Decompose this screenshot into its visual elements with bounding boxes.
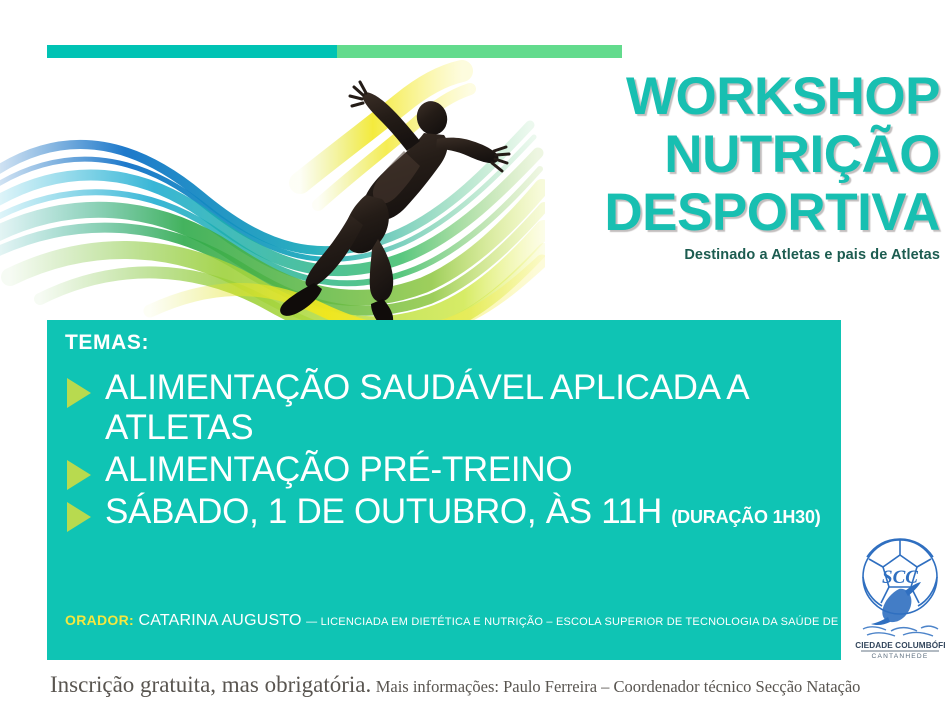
poster-canvas: WORKSHOP NUTRIÇÃO DESPORTIVA Destinado a… [0, 0, 950, 712]
logo-name-line-2: CANTANHEDE [872, 653, 929, 660]
logo-name-line-1: SOCIEDADE COLUMBÓFILA [855, 639, 945, 650]
headline-line-2: NUTRIÇÃO [500, 126, 940, 184]
topic-text: ALIMENTAÇÃO SAUDÁVEL APLICADA A ATLETAS [105, 368, 831, 448]
triangle-bullet-icon [67, 378, 91, 408]
topic-main-text: SÁBADO, 1 DE OUTUBRO, ÀS 11H [105, 492, 662, 531]
sprinting-athlete-artwork [0, 55, 545, 320]
triangle-bullet-icon [67, 502, 91, 532]
topic-duration-note: (DURAÇÃO 1H30) [671, 507, 820, 527]
poster-headline: WORKSHOP NUTRIÇÃO DESPORTIVA Destinado a… [500, 68, 940, 263]
club-logo: SCC SOCIEDADE COLUMBÓFILA CANTANHEDE [855, 525, 945, 660]
footer-emphasis: Inscrição gratuita, mas obrigatória. [50, 672, 371, 697]
topic-text: ALIMENTAÇÃO PRÉ-TREINO [105, 450, 572, 490]
topic-item: ALIMENTAÇÃO PRÉ-TREINO [59, 450, 831, 490]
footer-note: Inscrição gratuita, mas obrigatória. Mai… [50, 672, 910, 698]
speaker-credentials: — LICENCIADA EM DIETÉTICA E NUTRIÇÃO – E… [306, 616, 894, 628]
logo-monogram: SCC [882, 567, 918, 588]
topic-item: SÁBADO, 1 DE OUTUBRO, ÀS 11H (DURAÇÃO 1H… [59, 492, 831, 532]
speaker-label: ORADOR: [65, 612, 134, 628]
topics-list: ALIMENTAÇÃO SAUDÁVEL APLICADA A ATLETAS … [59, 368, 831, 534]
speaker-name: CATARINA AUGUSTO [138, 612, 301, 629]
triangle-bullet-icon [67, 460, 91, 490]
topic-text: SÁBADO, 1 DE OUTUBRO, ÀS 11H (DURAÇÃO 1H… [105, 492, 821, 532]
topics-heading: TEMAS: [65, 331, 149, 355]
footer-detail: Mais informações: Paulo Ferreira – Coord… [376, 677, 861, 696]
topic-item: ALIMENTAÇÃO SAUDÁVEL APLICADA A ATLETAS [59, 368, 831, 448]
headline-subtitle: Destinado a Atletas e pais de Atletas [500, 247, 940, 263]
headline-line-1: WORKSHOP [500, 68, 940, 126]
speaker-line: ORADOR: CATARINA AUGUSTO — LICENCIADA EM… [65, 612, 827, 630]
headline-line-3: DESPORTIVA [500, 184, 940, 242]
topics-panel: TEMAS: ALIMENTAÇÃO SAUDÁVEL APLICADA A A… [47, 320, 841, 660]
